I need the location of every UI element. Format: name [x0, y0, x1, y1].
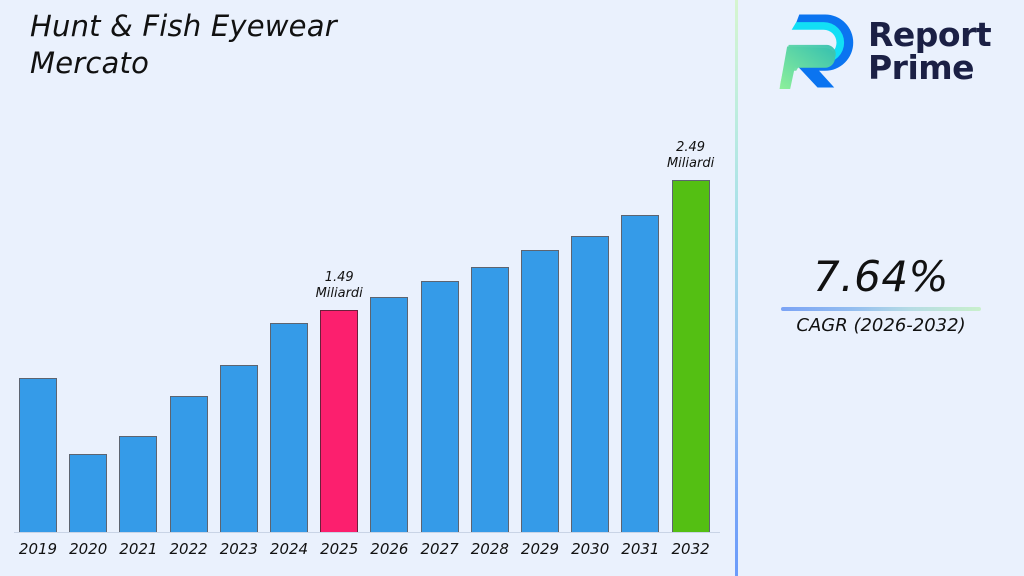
- cagr-value: 7.64%: [738, 252, 1024, 301]
- bar-2028[interactable]: [471, 267, 509, 533]
- x-tick-2023: 2023: [214, 540, 264, 558]
- bar-2021[interactable]: [119, 436, 157, 533]
- bar-2030[interactable]: [571, 236, 609, 533]
- bar-2022[interactable]: [170, 396, 208, 533]
- x-tick-2022: 2022: [164, 540, 214, 558]
- x-tick-2024: 2024: [264, 540, 314, 558]
- x-tick-2027: 2027: [415, 540, 465, 558]
- bar-2025[interactable]: [320, 310, 358, 533]
- bar-2032[interactable]: [672, 180, 710, 533]
- x-tick-2026: 2026: [364, 540, 414, 558]
- brand-logo: Report Prime: [778, 10, 991, 92]
- cagr-divider-rule: [781, 307, 981, 311]
- x-tick-2029: 2029: [515, 540, 565, 558]
- x-tick-2019: 2019: [13, 540, 63, 558]
- x-tick-2025: 2025: [314, 540, 364, 558]
- brand-name: Report Prime: [868, 18, 991, 84]
- bar-series: [0, 0, 735, 533]
- infographic-root: Hunt & Fish Eyewear Mercato 201920202021…: [0, 0, 1024, 576]
- bar-value-label-2025: 1.49 Miliardi: [289, 270, 389, 303]
- report-prime-logo-icon: [778, 10, 854, 92]
- bar-value-label-2032: 2.49 Miliardi: [641, 140, 741, 173]
- cagr-block: 7.64% CAGR (2026-2032): [738, 252, 1024, 336]
- x-tick-2020: 2020: [63, 540, 113, 558]
- bar-chart-plot: 2019202020212022202320242025202620272028…: [0, 0, 735, 576]
- x-tick-2031: 2031: [615, 540, 665, 558]
- bar-2020[interactable]: [69, 454, 107, 533]
- bar-2023[interactable]: [220, 365, 258, 533]
- cagr-caption: CAGR (2026-2032): [738, 315, 1024, 336]
- chart-panel: Hunt & Fish Eyewear Mercato 201920202021…: [0, 0, 735, 576]
- x-axis-line: [14, 532, 720, 533]
- x-axis-tick-labels: 2019202020212022202320242025202620272028…: [0, 536, 735, 566]
- bar-2031[interactable]: [621, 215, 659, 533]
- x-tick-2028: 2028: [465, 540, 515, 558]
- x-tick-2030: 2030: [565, 540, 615, 558]
- bar-2029[interactable]: [521, 250, 559, 533]
- bar-2024[interactable]: [270, 323, 308, 533]
- bar-2019[interactable]: [19, 378, 57, 533]
- bar-2027[interactable]: [421, 281, 459, 533]
- brand-panel: Report Prime 7.64% CAGR (2026-2032): [738, 0, 1024, 576]
- x-tick-2021: 2021: [113, 540, 163, 558]
- bar-2026[interactable]: [370, 297, 408, 533]
- x-tick-2032: 2032: [666, 540, 716, 558]
